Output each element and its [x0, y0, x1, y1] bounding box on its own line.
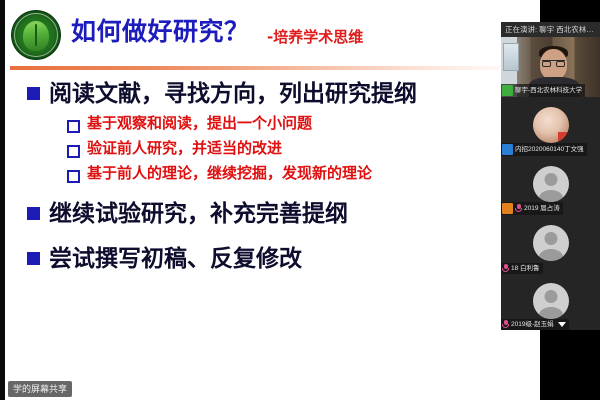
avatar [533, 166, 569, 202]
participant-badge-icon [502, 144, 513, 155]
title-divider [10, 66, 535, 70]
slide-body: 阅读文献，寻找方向，列出研究提纲 基于观察和阅读，提出一个小问题 验证前人研究，… [5, 78, 540, 378]
participant-filmstrip[interactable]: 正在演讲: 聊宇 西北农林科... 聊宇-西北农林科技大学 内招2020 [501, 22, 600, 330]
avatar-head [544, 173, 557, 186]
bullet-level2: 验证前人研究，并适当的改进 [67, 138, 540, 159]
avatar-head [544, 290, 557, 303]
spacer [5, 233, 540, 243]
bullet-text: 尝试撰写初稿、反复修改 [49, 243, 302, 274]
avatar [533, 107, 569, 143]
avatar-corner-mark [558, 132, 569, 143]
bullet-marker-filled-icon [27, 87, 40, 100]
participant-badge-icon [502, 203, 513, 214]
avatar-body [539, 190, 563, 202]
bullet-level1: 阅读文献，寻找方向，列出研究提纲 [27, 78, 540, 109]
microphone-icon [502, 320, 509, 329]
slide-subtitle: -培养学术思维 [267, 26, 363, 47]
bullet-text: 基于前人的理论，继续挖掘，发现新的理论 [87, 163, 372, 184]
host-badge-icon [502, 85, 513, 96]
person-glasses [542, 60, 565, 66]
participant-tile[interactable]: 2019级-赵玉娟 [501, 274, 600, 330]
bullet-level2: 基于前人的理论，继续挖掘，发现新的理论 [67, 163, 540, 184]
chevron-down-icon[interactable] [558, 322, 566, 327]
background-window [503, 43, 519, 71]
spacer [5, 188, 540, 198]
bullet-marker-filled-icon [27, 207, 40, 220]
participant-name: 2019 届占涛 [524, 204, 560, 213]
avatar-head [544, 232, 557, 245]
participant-tile[interactable]: 聊宇-西北农林科技大学 [501, 37, 600, 97]
bullet-text: 继续试验研究，补充完善提纲 [49, 198, 348, 229]
meeting-screen: 如何做好研究？ -培养学术思维 阅读文献，寻找方向，列出研究提纲 基于观察和阅读… [0, 0, 600, 400]
bullet-text: 基于观察和阅读，提出一个小问题 [87, 113, 312, 134]
participant-tile[interactable]: 2019 届占涛 [501, 156, 600, 215]
participant-label: 聊宇-西北农林科技大学 [501, 84, 585, 97]
bullet-text: 验证前人研究，并适当的改进 [87, 138, 282, 159]
slide-title: 如何做好研究？ [71, 12, 250, 48]
bullet-marker-hollow-icon [67, 120, 80, 133]
bullet-marker-filled-icon [27, 252, 40, 265]
avatar-body [539, 249, 563, 261]
participant-tile[interactable]: 18 白利鲁 [501, 215, 600, 274]
bullet-text: 阅读文献，寻找方向，列出研究提纲 [49, 78, 417, 109]
participant-name: 聊宇-西北农林科技大学 [515, 86, 582, 95]
bullet-level2: 基于观察和阅读，提出一个小问题 [67, 113, 540, 134]
participant-name: 2019级-赵玉娟 [511, 320, 554, 329]
bullet-level1: 尝试撰写初稿、反复修改 [27, 243, 540, 274]
left-gutter [0, 0, 5, 400]
bullet-marker-hollow-icon [67, 170, 80, 183]
participant-name: 18 白利鲁 [511, 264, 540, 273]
participant-label: 2019级-赵玉娟 [501, 319, 569, 330]
avatar [533, 283, 569, 319]
participant-label: 内招2020060140丁文强 [501, 143, 587, 156]
speaking-indicator: 正在演讲: 聊宇 西北农林科... [501, 22, 600, 37]
bullet-level1: 继续试验研究，补充完善提纲 [27, 198, 540, 229]
participant-label: 2019 届占涛 [501, 202, 563, 215]
emblem-wheat [23, 21, 49, 51]
avatar-body [539, 307, 563, 319]
participant-tile[interactable]: 内招2020060140丁文强 [501, 97, 600, 156]
university-emblem-icon [11, 10, 61, 60]
participant-label: 18 白利鲁 [501, 263, 543, 274]
bullet-marker-hollow-icon [67, 145, 80, 158]
screen-share-watermark: 学的屏幕共享 [8, 381, 72, 397]
participant-name: 内招2020060140丁文强 [515, 145, 584, 154]
shared-slide: 如何做好研究？ -培养学术思维 阅读文献，寻找方向，列出研究提纲 基于观察和阅读… [5, 0, 540, 400]
microphone-icon [515, 204, 522, 213]
microphone-icon [502, 264, 509, 273]
slide-title-row: 如何做好研究？ -培养学术思维 [5, 4, 540, 60]
avatar [533, 225, 569, 261]
